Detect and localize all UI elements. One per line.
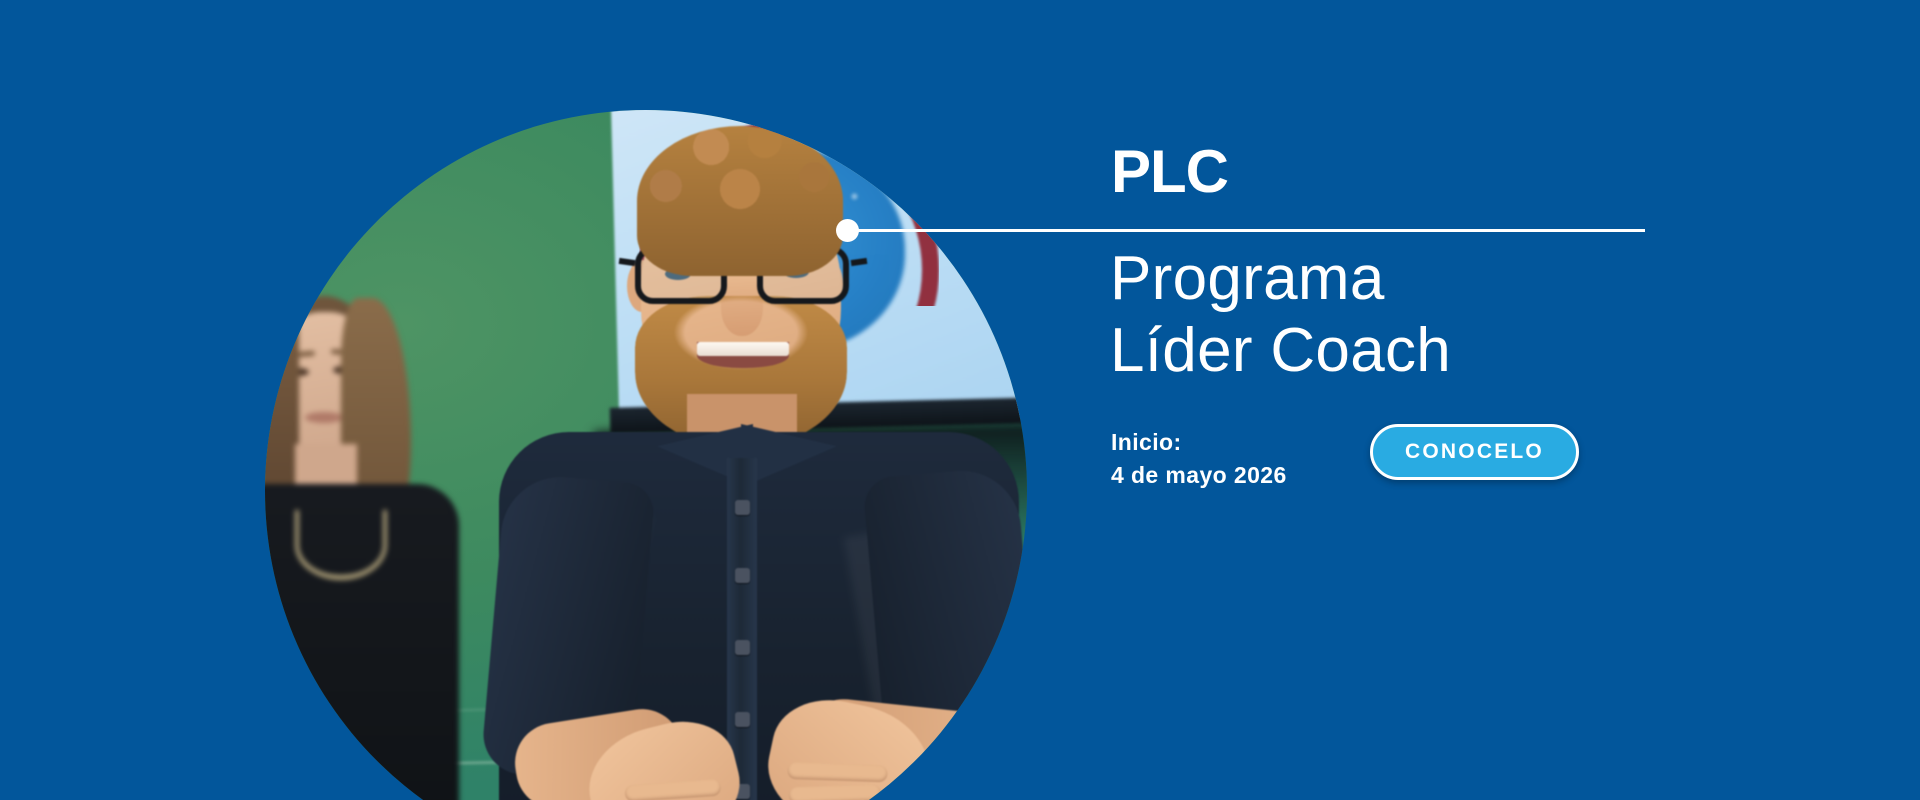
start-date-label: Inicio: (1111, 426, 1287, 459)
banner-content: PLC Programa Líder Coach Inicio: 4 de ma… (0, 0, 1920, 800)
divider-rule (847, 229, 1645, 232)
conocelo-button[interactable]: CONOCELO (1370, 424, 1579, 480)
program-code: PLC (1111, 142, 1228, 202)
page-title-line-2: Líder Coach (1110, 315, 1451, 387)
start-date-block: Inicio: 4 de mayo 2026 (1111, 426, 1287, 491)
promo-banner: PLC Programa Líder Coach Inicio: 4 de ma… (0, 0, 1920, 800)
page-title-line-1: Programa (1110, 243, 1451, 315)
start-date-value: 4 de mayo 2026 (1111, 459, 1287, 492)
page-title: Programa Líder Coach (1110, 243, 1451, 387)
